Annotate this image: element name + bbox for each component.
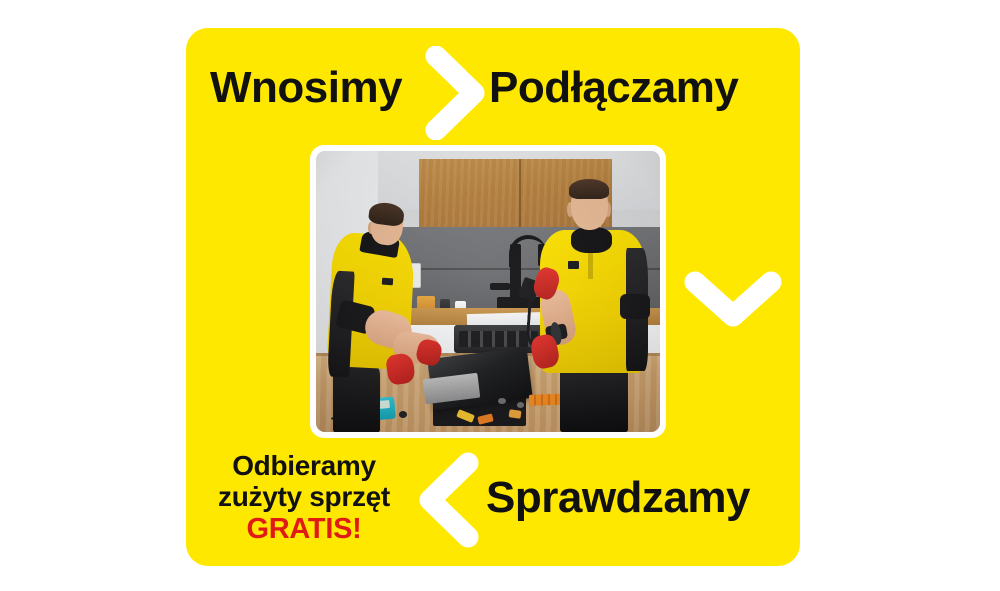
right-tech-hair — [569, 179, 609, 199]
recycling-gratis-badge: GRATIS! — [194, 513, 414, 545]
recycling-line-1: Odbieramy — [194, 450, 414, 481]
technician-left — [330, 202, 488, 432]
step-label-wnosimy: Wnosimy — [210, 66, 402, 110]
step-label-sprawdzamy: Sprawdzamy — [486, 476, 750, 520]
faucet-handle — [490, 283, 511, 290]
photo-frame — [310, 145, 666, 438]
installation-photo — [316, 151, 660, 432]
right-tech-logo — [568, 261, 579, 269]
left-tech-hair — [367, 201, 404, 227]
recycling-line-2: zużyty sprzęt — [194, 481, 414, 512]
left-tech-logo — [382, 277, 394, 285]
connector-amber — [508, 409, 521, 419]
right-tech-sleeve — [620, 294, 650, 320]
step-label-podlaczamy: Podłączamy — [489, 66, 738, 110]
right-tech-trousers — [560, 366, 629, 432]
poster-canvas: Wnosimy Podłączamy — [0, 0, 1000, 591]
chevron-right-icon — [422, 46, 492, 140]
recycling-note: Odbieramy zużyty sprzęt GRATIS! — [194, 450, 414, 545]
chevron-down-icon — [684, 271, 782, 329]
right-tech-collar — [571, 227, 612, 253]
technician-right — [529, 176, 660, 432]
chevron-left-icon — [412, 452, 482, 548]
promo-card: Wnosimy Podłączamy — [186, 28, 800, 566]
